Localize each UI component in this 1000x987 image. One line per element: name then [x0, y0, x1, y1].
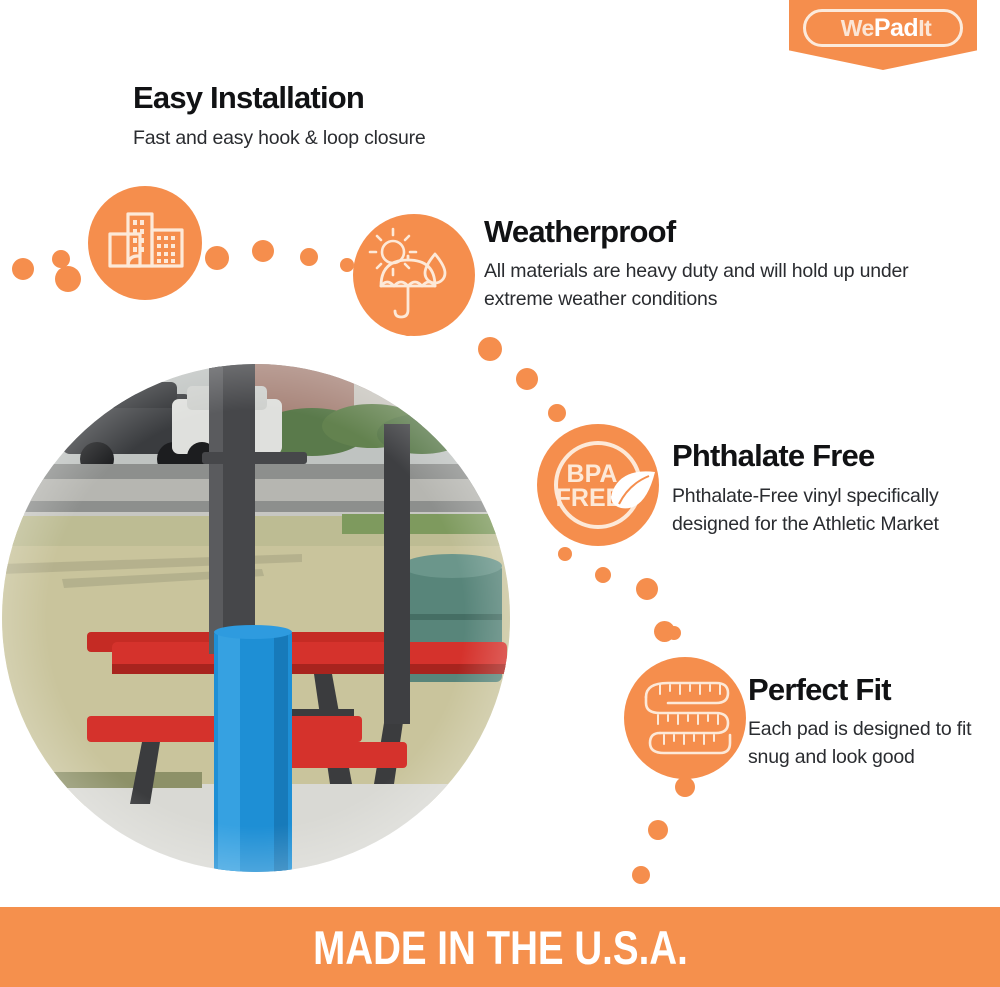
- connector-dot: [667, 626, 681, 640]
- connector-dot: [12, 258, 34, 280]
- logo-outline: WePadIt: [803, 9, 963, 47]
- connector-dot: [205, 246, 229, 270]
- measuring-tape-icon: [624, 657, 746, 779]
- product-photo: [2, 364, 510, 872]
- feature-icon-easy-installation: [88, 186, 202, 300]
- brand-logo: WePadIt: [789, 0, 977, 70]
- building-installation-icon: [88, 186, 202, 300]
- product-photo-image: [2, 364, 510, 872]
- connector-dot: [340, 258, 354, 272]
- feature-title-phthalate-free: Phthalate Free: [672, 438, 874, 474]
- connector-dot: [558, 547, 572, 561]
- infographic-page: WePadIt Easy Installation Fast and easy …: [0, 0, 1000, 987]
- connector-dot: [478, 337, 502, 361]
- bpa-free-leaf-icon: BPA FREE: [537, 424, 659, 546]
- connector-dot: [252, 240, 274, 262]
- feature-desc-weatherproof: All materials are heavy duty and will ho…: [484, 257, 914, 313]
- connector-dot: [516, 368, 538, 390]
- feature-icon-weatherproof: [353, 214, 475, 336]
- connector-dot: [595, 567, 611, 583]
- feature-icon-perfect-fit: [624, 657, 746, 779]
- connector-dot: [548, 404, 566, 422]
- sun-umbrella-raindrop-icon: [353, 214, 475, 336]
- feature-desc-easy-installation: Fast and easy hook & loop closure: [133, 124, 553, 152]
- logo-text: WePadIt: [806, 12, 966, 44]
- connector-dot: [675, 777, 695, 797]
- feature-title-easy-installation: Easy Installation: [133, 80, 364, 116]
- logo-text-pad: Pad: [874, 14, 918, 42]
- feature-desc-phthalate-free: Phthalate-Free vinyl specifically design…: [672, 482, 942, 538]
- feature-icon-phthalate-free: BPA FREE: [537, 424, 659, 546]
- connector-dot: [648, 820, 668, 840]
- made-in-usa-banner: MADE IN THE U.S.A.: [0, 907, 1000, 987]
- feature-desc-perfect-fit: Each pad is designed to fit snug and loo…: [748, 715, 978, 771]
- connector-dot: [300, 248, 318, 266]
- logo-text-we: We: [841, 15, 874, 41]
- connector-dot: [636, 578, 658, 600]
- connector-dot: [55, 266, 81, 292]
- made-in-usa-text: MADE IN THE U.S.A.: [313, 920, 688, 975]
- connector-dot: [632, 866, 650, 884]
- feature-title-weatherproof: Weatherproof: [484, 214, 675, 250]
- logo-text-it: It: [918, 15, 931, 41]
- feature-title-perfect-fit: Perfect Fit: [748, 672, 891, 708]
